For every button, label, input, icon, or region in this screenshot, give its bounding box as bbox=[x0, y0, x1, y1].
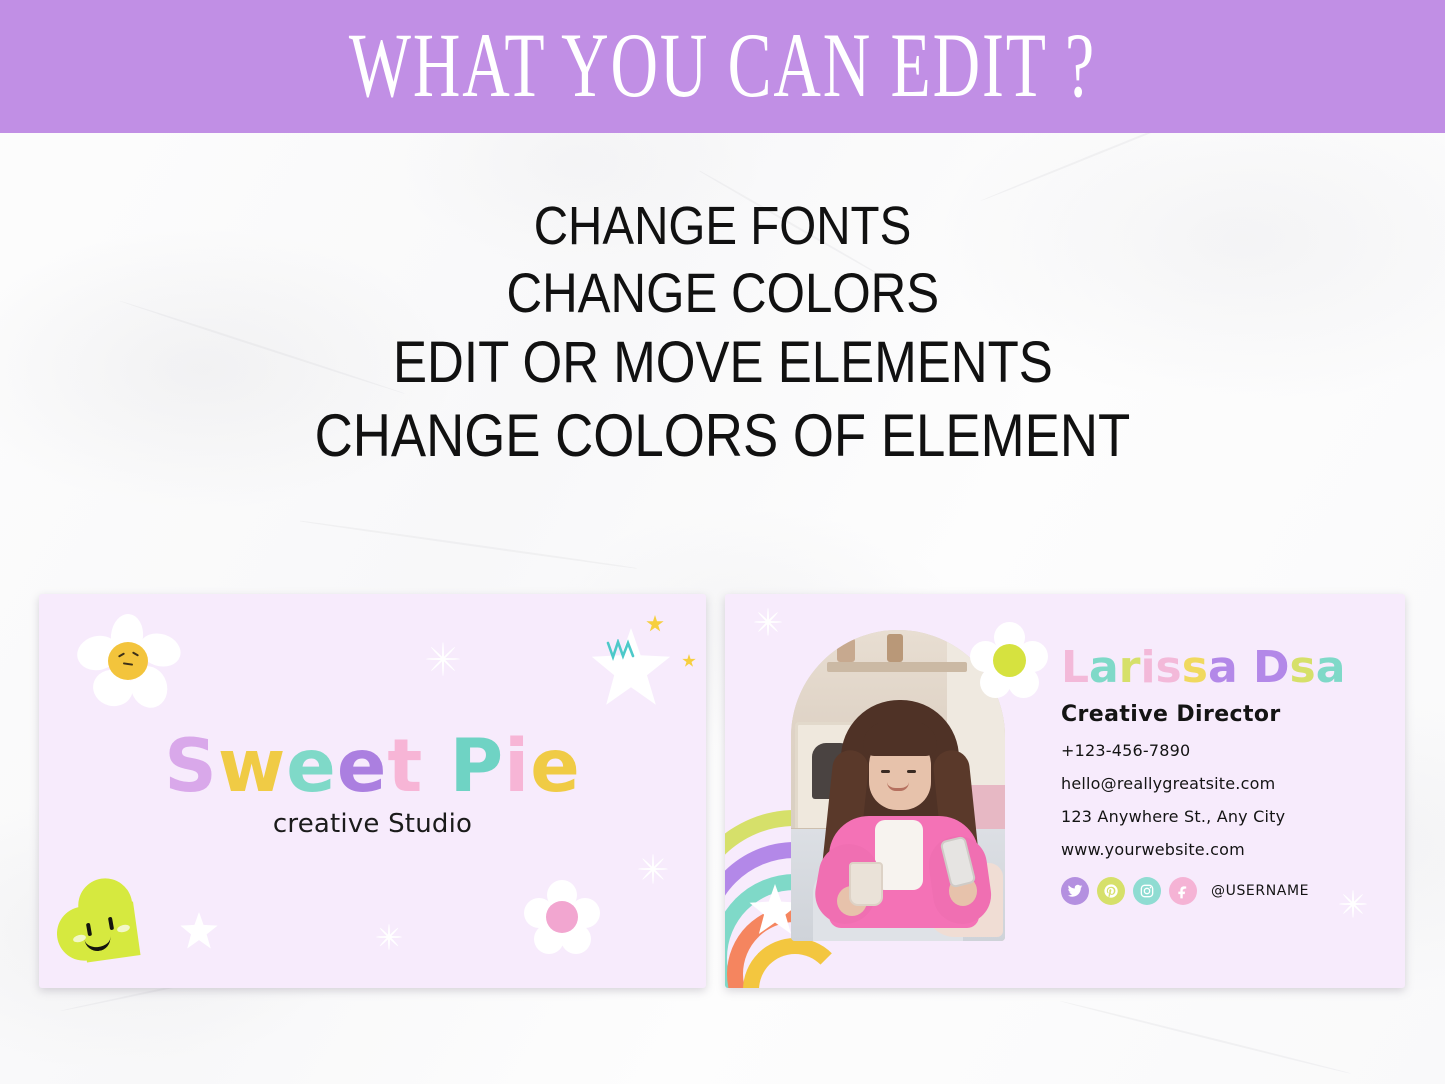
business-card-back[interactable]: Larissa Dsa Creative Director +123-456-7… bbox=[725, 594, 1405, 988]
logo-letter bbox=[423, 730, 449, 803]
name-letter: i bbox=[1140, 646, 1155, 690]
logo-letter: S bbox=[164, 730, 218, 803]
contact-address: 123 Anywhere St., Any City bbox=[1061, 807, 1391, 826]
flower-center bbox=[108, 642, 148, 680]
card-logo: Sweet Pie creative Studio bbox=[39, 730, 706, 839]
name-letter: s bbox=[1290, 646, 1316, 690]
feature-list: CHANGE FONTS CHANGE COLORS EDIT OR MOVE … bbox=[0, 196, 1445, 469]
business-card-front[interactable]: Sweet Pie creative Studio bbox=[39, 594, 706, 988]
name-letter: L bbox=[1061, 646, 1089, 690]
social-handle: @USERNAME bbox=[1211, 883, 1309, 899]
pink-flower-icon bbox=[523, 880, 601, 956]
mini-star-icon bbox=[646, 615, 664, 633]
flower-center bbox=[993, 644, 1026, 677]
smiley-heart-icon bbox=[57, 879, 155, 971]
sparkle-icon bbox=[375, 924, 401, 950]
logo-letter: w bbox=[218, 730, 286, 803]
name-letter: D bbox=[1253, 646, 1290, 690]
logo-letter: i bbox=[504, 730, 530, 803]
name-letter: a bbox=[1208, 646, 1238, 690]
logo-tagline: creative Studio bbox=[273, 809, 472, 839]
name-letter: a bbox=[1316, 646, 1346, 690]
flower-center bbox=[546, 901, 578, 933]
social-links: @USERNAME bbox=[1061, 877, 1391, 905]
logo-letter: P bbox=[450, 730, 505, 803]
green-flower-icon bbox=[969, 622, 1049, 700]
twitter-icon[interactable] bbox=[1061, 877, 1089, 905]
page-title: WHAT YOU CAN EDIT ? bbox=[349, 20, 1096, 112]
logo-title: Sweet Pie bbox=[164, 730, 580, 803]
name-letter: s bbox=[1156, 646, 1182, 690]
contact-name: Larissa Dsa bbox=[1061, 646, 1391, 690]
squiggle-icon bbox=[606, 639, 642, 665]
contact-email[interactable]: hello@reallygreatsite.com bbox=[1061, 774, 1391, 793]
contact-details: Larissa Dsa Creative Director +123-456-7… bbox=[1061, 646, 1391, 905]
logo-letter: e bbox=[337, 730, 388, 803]
name-letter: r bbox=[1119, 646, 1141, 690]
header-bar: WHAT YOU CAN EDIT ? bbox=[0, 0, 1445, 133]
feature-item: CHANGE FONTS bbox=[534, 196, 912, 256]
facebook-icon[interactable] bbox=[1169, 877, 1197, 905]
pinterest-icon[interactable] bbox=[1097, 877, 1125, 905]
sparkle-icon bbox=[425, 642, 459, 676]
contact-role: Creative Director bbox=[1061, 702, 1391, 727]
marble-vein bbox=[300, 520, 637, 569]
sparkle-icon bbox=[637, 854, 667, 884]
contact-phone[interactable]: +123-456-7890 bbox=[1061, 741, 1391, 760]
page-background: WHAT YOU CAN EDIT ? CHANGE FONTS CHANGE … bbox=[0, 0, 1445, 1084]
instagram-icon[interactable] bbox=[1133, 877, 1161, 905]
name-letter: a bbox=[1089, 646, 1119, 690]
mini-star-icon bbox=[682, 654, 696, 668]
sparkle-icon bbox=[753, 608, 781, 636]
small-white-star-icon bbox=[180, 912, 218, 950]
name-letter bbox=[1238, 646, 1253, 690]
logo-letter: e bbox=[286, 730, 337, 803]
marble-vein bbox=[1060, 1000, 1352, 1075]
daisy-flower-icon bbox=[81, 616, 173, 708]
feature-item: EDIT OR MOVE ELEMENTS bbox=[393, 331, 1053, 396]
feature-item: CHANGE COLORS bbox=[506, 262, 939, 325]
logo-letter: t bbox=[387, 730, 423, 803]
logo-letter: e bbox=[530, 730, 581, 803]
name-letter: s bbox=[1182, 646, 1208, 690]
contact-website[interactable]: www.yourwebsite.com bbox=[1061, 840, 1391, 859]
feature-item: CHANGE COLORS OF ELEMENT bbox=[315, 402, 1131, 469]
